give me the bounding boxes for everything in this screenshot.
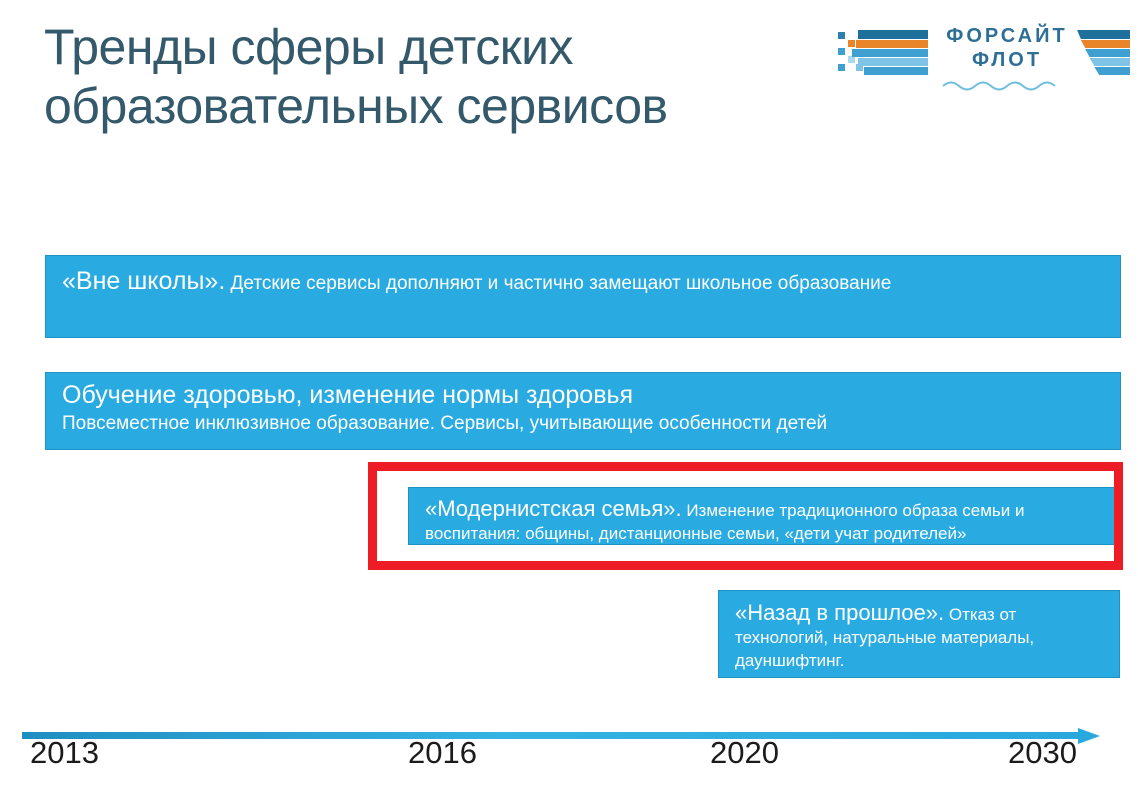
trend-bar-health[interactable]: Обучение здоровью, изменение нормы здоро… [45, 372, 1121, 450]
timeline-year-2013: 2013 [30, 735, 99, 771]
logo-word-forsait: ФОРСАЙТ [944, 24, 1070, 48]
trend-rest-health: Повсеместное инклюзивное образование. Се… [62, 411, 1106, 436]
logo-wave-icon [942, 78, 1072, 92]
logo-word-flot: ФЛОТ [944, 48, 1070, 72]
trend-lead-out-of-school: «Вне школы». [62, 267, 225, 295]
trend-lead-modern-family: «Модернистская семья». [425, 496, 682, 521]
trend-lead-back-to-past: «Назад в прошлое». [735, 600, 944, 625]
page-title: Тренды сферы детских образовательных сер… [44, 18, 804, 136]
timeline-year-labels: 2013 2016 2020 2030 [0, 735, 1138, 785]
logo-wordmark: ФОРСАЙТ ФЛОТ [944, 24, 1070, 72]
logo-pixel-mark-icon [838, 28, 938, 80]
timeline-year-2020: 2020 [710, 735, 779, 771]
logo-hull-icon [1076, 28, 1130, 80]
trend-lead-health: Обучение здоровью, изменение нормы здоро… [62, 379, 1106, 411]
timeline-year-2030: 2030 [1008, 735, 1077, 771]
slide: Тренды сферы детских образовательных сер… [0, 0, 1138, 796]
logo-forsait-flot: ФОРСАЙТ ФЛОТ [838, 22, 1110, 100]
trend-rest-out-of-school: Детские сервисы дополняют и частично зам… [225, 273, 891, 294]
trend-bar-out-of-school[interactable]: «Вне школы». Детские сервисы дополняют и… [45, 255, 1121, 338]
trend-bar-back-to-past[interactable]: «Назад в прошлое». Отказ от технологий, … [718, 590, 1120, 678]
timeline-year-2016: 2016 [408, 735, 477, 771]
trend-bar-modern-family[interactable]: «Модернистская семья». Изменение традици… [408, 487, 1120, 545]
